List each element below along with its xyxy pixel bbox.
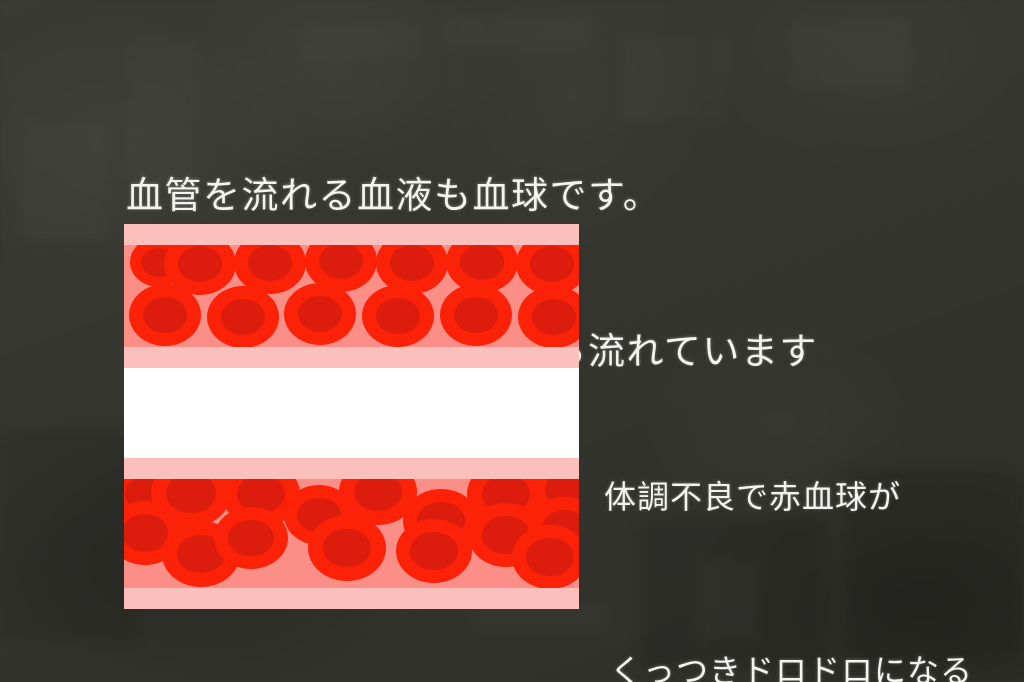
vessel-plasma-bottom bbox=[124, 479, 579, 588]
red-blood-cell bbox=[308, 515, 386, 581]
caption-text: 体調不良で赤血球が くっつきドロドロになる bbox=[604, 352, 973, 682]
red-blood-cell bbox=[129, 284, 201, 346]
vessel-wall-bottom bbox=[124, 347, 579, 368]
headline-line-1: 血管を流れる血液も血球です。 bbox=[126, 170, 818, 222]
vessel-plasma-top bbox=[124, 245, 579, 347]
blood-vessel-illustration bbox=[124, 224, 579, 609]
red-blood-cell bbox=[512, 525, 579, 588]
caption-line-2: くっつきドロドロになる bbox=[604, 642, 973, 682]
vessel-wall-bottom bbox=[124, 588, 579, 609]
caption-line-1: 体調不良で赤血球が bbox=[604, 468, 973, 526]
red-blood-cell bbox=[284, 283, 356, 345]
red-blood-cell bbox=[207, 286, 279, 347]
red-blood-cell bbox=[362, 285, 434, 347]
vessel-healthy bbox=[124, 224, 579, 368]
red-blood-cell bbox=[396, 519, 472, 583]
vessel-wall-top bbox=[124, 224, 579, 245]
red-blood-cell bbox=[440, 284, 512, 346]
vessel-clumped bbox=[124, 458, 579, 609]
vessel-wall-top bbox=[124, 458, 579, 479]
red-blood-cell bbox=[214, 507, 288, 569]
middle-white-band bbox=[124, 368, 579, 458]
red-blood-cell bbox=[518, 286, 579, 347]
slide-canvas: 血管を流れる血液も血球です。 血管の中を軽く擦れながら流れています bbox=[0, 0, 1024, 682]
